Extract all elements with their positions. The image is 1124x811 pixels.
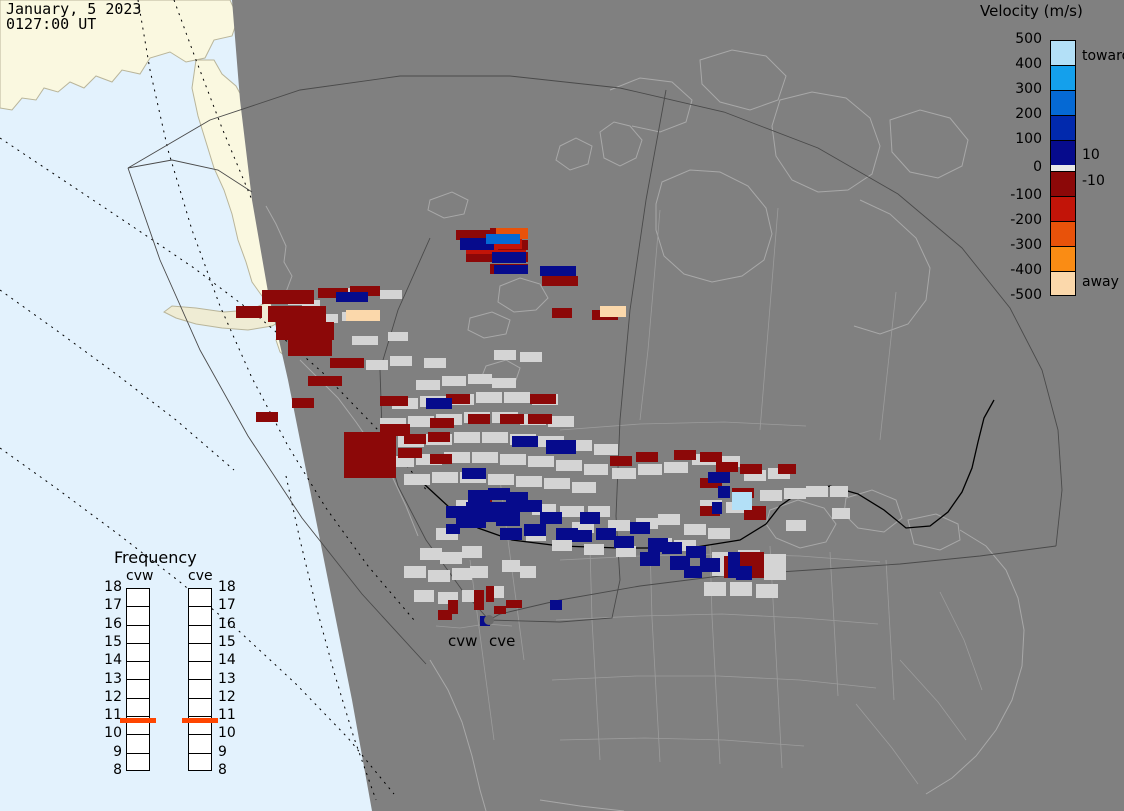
colorbar-label-away: away xyxy=(1082,274,1119,290)
colorbar-label-inner-positive: 10 xyxy=(1082,147,1100,163)
frequency-title: Frequency xyxy=(114,548,197,567)
colorbar-tick-300: 300 xyxy=(990,81,1042,97)
frequency-scale-label-left-10: 10 xyxy=(98,725,122,741)
frequency-segment xyxy=(189,699,211,717)
frequency-scale-label-right-12: 12 xyxy=(218,689,236,705)
frequency-scale-label-left-18: 18 xyxy=(98,579,122,595)
frequency-scale-label-left-8: 8 xyxy=(98,762,122,778)
radar-label-cvw: cvw xyxy=(448,632,477,650)
frequency-scale-label-left-16: 16 xyxy=(98,616,122,632)
colorbar-swatch--500---400 xyxy=(1050,271,1076,296)
colorbar-tick-neg200: -200 xyxy=(990,212,1042,228)
frequency-marker-cvw xyxy=(120,718,156,723)
colorbar-tick-0: 0 xyxy=(990,159,1042,175)
frequency-scale-label-right-18: 18 xyxy=(218,579,236,595)
frequency-column-header-cvw: cvw xyxy=(126,568,153,584)
frequency-scale-label-left-9: 9 xyxy=(98,744,122,760)
frequency-segment xyxy=(189,607,211,625)
colorbar-tick-neg500: -500 xyxy=(990,287,1042,303)
frequency-scale-label-left-15: 15 xyxy=(98,634,122,650)
frequency-segment xyxy=(127,607,149,625)
velocity-cells-toward-light-blue xyxy=(732,492,752,510)
colorbar-tick-100: 100 xyxy=(990,131,1042,147)
colorbar-tick-500: 500 xyxy=(990,31,1042,47)
colorbar-swatch-10--100 xyxy=(1050,140,1076,165)
frequency-scale-label-left-11: 11 xyxy=(98,707,122,723)
frequency-scale-label-left-12: 12 xyxy=(98,689,122,705)
frequency-column-header-cve: cve xyxy=(188,568,213,584)
superdarn-velocity-map: January, 5 20230127:00 UT cvw cve Veloci… xyxy=(0,0,1124,811)
colorbar-swatch--200---100 xyxy=(1050,196,1076,221)
frequency-segment xyxy=(127,626,149,644)
radar-label-cve: cve xyxy=(489,632,515,650)
colorbar-swatch-200--300 xyxy=(1050,90,1076,115)
frequency-segment xyxy=(127,589,149,607)
colorbar-swatch--300---200 xyxy=(1050,221,1076,246)
frequency-scale-label-right-14: 14 xyxy=(218,652,236,668)
frequency-scale-label-right-8: 8 xyxy=(218,762,227,778)
frequency-scale-label-right-17: 17 xyxy=(218,597,236,613)
frequency-segment xyxy=(127,662,149,680)
frequency-segment xyxy=(189,754,211,772)
colorbar-label-inner-negative: -10 xyxy=(1082,173,1105,189)
frequency-segment xyxy=(127,644,149,662)
colorbar-swatch-400--500 xyxy=(1050,40,1076,65)
frequency-marker-cve xyxy=(182,718,218,723)
colorbar-tick-400: 400 xyxy=(990,56,1042,72)
colorbar-swatch--100---10 xyxy=(1050,171,1076,196)
frequency-bar-cvw[interactable] xyxy=(126,588,150,771)
colorbar-tick-neg400: -400 xyxy=(990,262,1042,278)
velocity-colorbar xyxy=(1050,40,1076,296)
frequency-segment xyxy=(189,735,211,753)
colorbar-swatch--400---300 xyxy=(1050,246,1076,271)
colorbar-tick-neg100: -100 xyxy=(990,187,1042,203)
velocity-cells-positive-mid-blue xyxy=(486,234,520,244)
frequency-scale-label-left-14: 14 xyxy=(98,652,122,668)
frequency-scale-label-right-16: 16 xyxy=(218,616,236,632)
colorbar-swatch-100--200 xyxy=(1050,115,1076,140)
frequency-scale-label-right-13: 13 xyxy=(218,671,236,687)
frequency-segment xyxy=(127,754,149,772)
frequency-segment xyxy=(189,644,211,662)
colorbar-swatch-300--400 xyxy=(1050,65,1076,90)
colorbar-title: Velocity (m/s) xyxy=(980,2,1083,20)
radar-site-marker xyxy=(484,615,494,625)
frequency-panel: Frequency cvw cve 1818171716161515141413… xyxy=(98,548,238,783)
frequency-segment xyxy=(189,589,211,607)
frequency-scale-label-right-9: 9 xyxy=(218,744,227,760)
frequency-segment xyxy=(127,735,149,753)
frequency-scale-label-left-13: 13 xyxy=(98,671,122,687)
frequency-segment xyxy=(127,680,149,698)
frequency-scale-label-right-10: 10 xyxy=(218,725,236,741)
colorbar-tick-neg300: -300 xyxy=(990,237,1042,253)
timestamp-time: 0127:00 UT xyxy=(6,15,96,33)
frequency-scale-label-left-17: 17 xyxy=(98,597,122,613)
frequency-segment xyxy=(189,626,211,644)
frequency-segment xyxy=(189,680,211,698)
frequency-scale-label-right-15: 15 xyxy=(218,634,236,650)
frequency-segment xyxy=(189,662,211,680)
timestamp: January, 5 20230127:00 UT xyxy=(6,2,141,32)
frequency-segment xyxy=(127,699,149,717)
frequency-bar-cve[interactable] xyxy=(188,588,212,771)
colorbar-tick-200: 200 xyxy=(990,106,1042,122)
frequency-scale-label-right-11: 11 xyxy=(218,707,236,723)
colorbar-label-toward: toward xyxy=(1082,48,1124,64)
